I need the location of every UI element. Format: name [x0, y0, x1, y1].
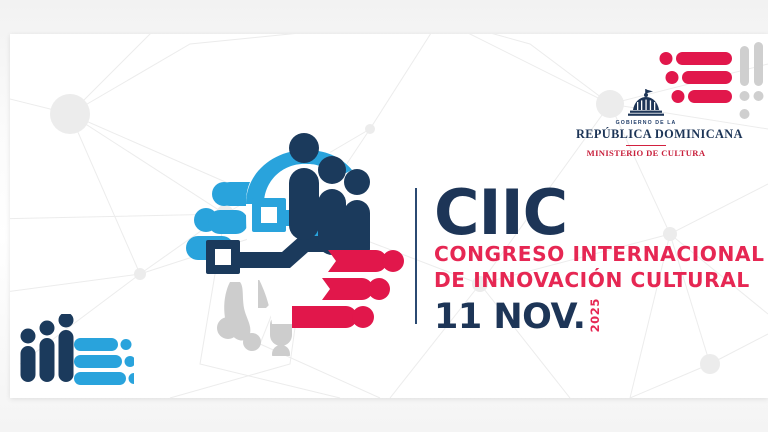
- capitol-dome-icon: [623, 89, 669, 119]
- title-divider: [415, 188, 417, 324]
- banner-card: GOBIERNO DE LA REPÚBLICA DOMINICANA MINI…: [10, 34, 768, 398]
- banner-canvas: GOBIERNO DE LA REPÚBLICA DOMINICANA MINI…: [0, 0, 768, 432]
- gray-figure-bars: [740, 42, 764, 119]
- event-title-block: CIIC CONGRESO INTERNACIONAL DE INNOVACIÓ…: [434, 184, 765, 335]
- decoration-bottom-left: [14, 314, 134, 392]
- event-date: 11 NOV.: [434, 300, 585, 335]
- navy-figures: [21, 314, 74, 382]
- event-year: 2025: [588, 298, 602, 332]
- gov-line-small: GOBIERNO DE LA: [576, 120, 716, 126]
- event-dateline: 11 NOV. 2025: [434, 298, 765, 334]
- ai-head-people-emblem: [186, 132, 406, 356]
- event-name-line2: DE INNOVACIÓN CULTURAL: [434, 269, 765, 293]
- government-logo: GOBIERNO DE LA REPÚBLICA DOMINICANA MINI…: [576, 89, 716, 158]
- gov-line-main: REPÚBLICA DOMINICANA: [576, 127, 716, 142]
- event-acronym: CIIC: [434, 184, 765, 241]
- gov-ministry: MINISTERIO DE CULTURA: [576, 148, 716, 158]
- gov-divider: [626, 145, 666, 146]
- blue-pill-bars: [74, 338, 134, 385]
- event-name-line1: CONGRESO INTERNACIONAL: [434, 243, 765, 267]
